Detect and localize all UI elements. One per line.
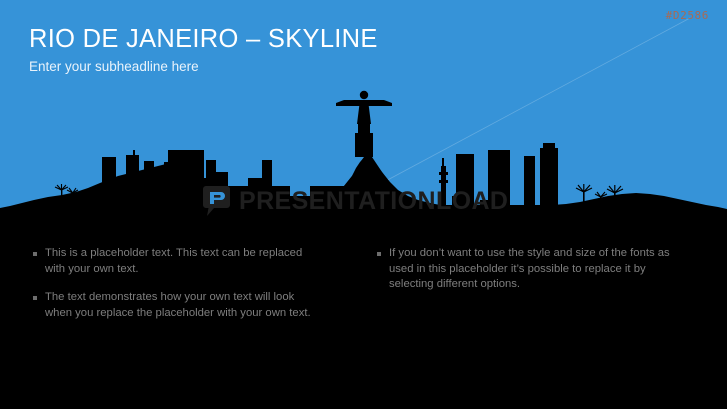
bullet-marker-icon [33, 252, 37, 256]
text-column-left: This is a placeholder text. This text ca… [0, 246, 345, 334]
header-block: RIO DE JANEIRO – SKYLINE Enter your subh… [29, 24, 649, 76]
bullet-text: This is a placeholder text. This text ca… [45, 246, 313, 277]
page-title: RIO DE JANEIRO – SKYLINE [29, 24, 649, 54]
list-item: This is a placeholder text. This text ca… [33, 246, 345, 277]
page-subtitle: Enter your subheadline here [29, 58, 649, 76]
bullet-marker-icon [33, 296, 37, 300]
body-content: This is a placeholder text. This text ca… [0, 246, 727, 334]
hex-color-label: #D2586 [666, 9, 709, 22]
bullet-text: If you don’t want to use the style and s… [389, 246, 672, 293]
list-item: The text demonstrates how your own text … [33, 290, 345, 321]
bullet-marker-icon [377, 252, 381, 256]
bullet-text: The text demonstrates how your own text … [45, 290, 313, 321]
text-column-right: If you don’t want to use the style and s… [345, 246, 727, 334]
list-item: If you don’t want to use the style and s… [377, 246, 727, 293]
slide-canvas: RIO DE JANEIRO – SKYLINE Enter your subh… [0, 0, 727, 409]
